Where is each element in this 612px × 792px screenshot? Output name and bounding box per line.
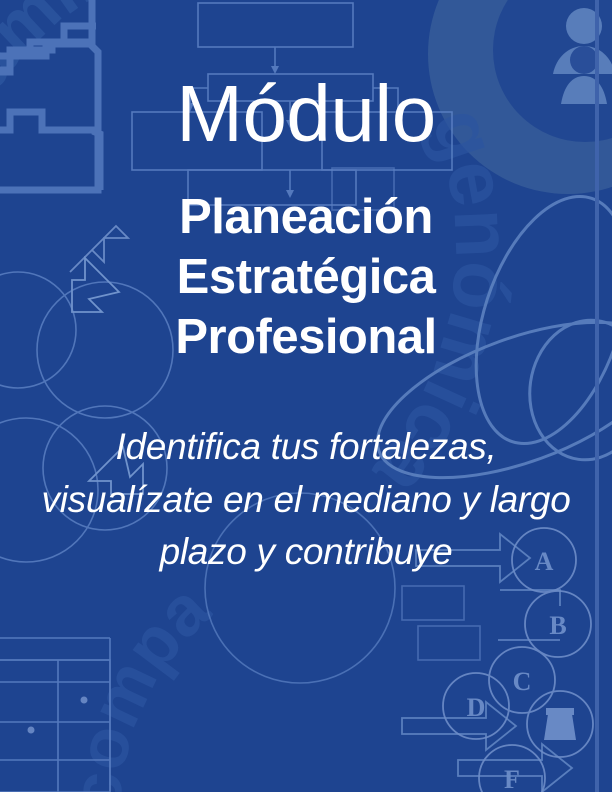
slide-canvas: familiar genómica la compa: [0, 0, 612, 792]
title-line-3: Profesional: [175, 308, 436, 368]
title-line-1: Planeación: [175, 188, 436, 248]
subtitle-text: Identifica tus fortalezas, visualízate e…: [36, 421, 576, 579]
slide-content: Módulo Planeación Estratégica Profesiona…: [0, 0, 612, 792]
module-label: Módulo: [176, 74, 435, 154]
title-line-2: Estratégica: [175, 248, 436, 308]
page-title: Planeación Estratégica Profesional: [175, 188, 436, 367]
